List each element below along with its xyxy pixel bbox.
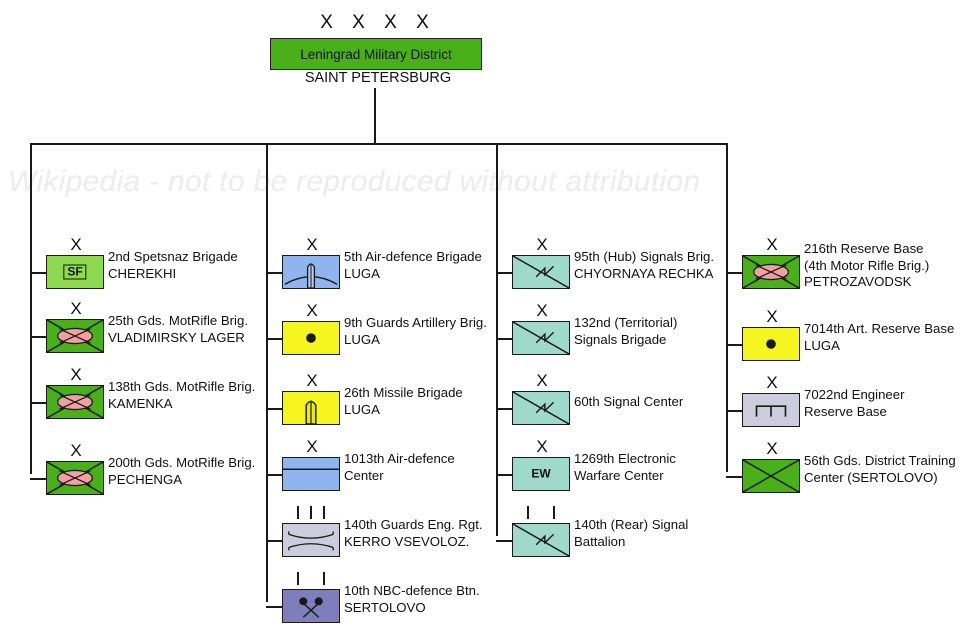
unit-connector-stub [266, 408, 282, 410]
echelon-tick [323, 572, 325, 585]
unit-connector-stub [496, 272, 512, 274]
unit-label: 7022nd EngineerReserve Base [804, 387, 904, 420]
unit-label: 25th Gds. MotRifle Brig.VLADIMIRSKY LAGE… [108, 313, 248, 346]
unit-label: 2nd Spetsnaz BrigadeCHEREKHI [108, 249, 238, 282]
unit-label: 132nd (Territorial)Signals Brigade [574, 315, 677, 348]
unit-location: PECHENGA [108, 472, 255, 489]
unit-connector-stub [726, 344, 742, 346]
unit-location: KAMENKA [108, 396, 255, 413]
unit-label: 1269th ElectronicWarfare Center [574, 451, 676, 484]
unit-size-symbol: X [46, 442, 106, 459]
unit-name: 200th Gds. MotRifle Brig. [108, 455, 255, 472]
unit-size-symbol: X [742, 374, 802, 391]
column-drop-4 [726, 143, 728, 472]
unit-name: 5th Air-defence Brigade [344, 249, 482, 266]
unit-name: 56th Gds. District Training [804, 453, 956, 470]
unit-label: 1013th Air-defenceCenter [344, 451, 455, 484]
unit-label: 200th Gds. MotRifle Brig.PECHENGA [108, 455, 255, 488]
motorized-rifle-icon[interactable] [742, 255, 800, 289]
unit-location: Battalion [574, 534, 688, 551]
unit-connector-stub [30, 272, 46, 274]
unit-label: 95th (Hub) Signals Brig.CHYORNAYA RECHKA [574, 249, 714, 282]
motorized-rifle-icon[interactable] [46, 319, 104, 353]
unit-name: 132nd (Territorial) [574, 315, 677, 332]
signals-icon[interactable] [512, 391, 570, 425]
unit-echelon-ticks [512, 506, 572, 520]
unit-size-symbol: X [282, 372, 342, 389]
echelon-tick [310, 506, 312, 519]
unit-echelon-ticks [282, 572, 342, 586]
unit-connector-stub [496, 540, 512, 542]
artillery-icon[interactable] [742, 327, 800, 361]
unit-name: 216th Reserve Base [804, 241, 929, 258]
unit-connector-stub [30, 402, 46, 404]
unit-connector-stub [266, 272, 282, 274]
unit-label: 9th Guards Artillery Brig.LUGA [344, 315, 487, 348]
echelon-tick [297, 572, 299, 585]
engineer-bridge-icon[interactable] [282, 523, 340, 557]
unit-location: KERRO VSEVOLOZ. [344, 534, 483, 551]
unit-connector-stub [496, 408, 512, 410]
unit-connector-stub [266, 474, 282, 476]
unit-size-symbol: X [46, 236, 106, 253]
unit-location: LUGA [804, 338, 954, 355]
signals-icon[interactable] [512, 321, 570, 355]
unit-size-symbol: X [512, 438, 572, 455]
unit-label: 26th Missile BrigadeLUGA [344, 385, 463, 418]
unit-label: 140th Guards Eng. Rgt.KERRO VSEVOLOZ. [344, 517, 483, 550]
unit-label: 216th Reserve Base(4th Motor Rifle Brig.… [804, 241, 929, 291]
nbc-defence-icon[interactable] [282, 589, 340, 623]
column-drop-1 [30, 143, 32, 474]
unit-location: LUGA [344, 402, 463, 419]
unit-connector-stub [266, 540, 282, 542]
unit-size-symbol: X [512, 236, 572, 253]
unit-connector-stub [496, 338, 512, 340]
unit-connector-stub [726, 476, 742, 478]
unit-size-symbol: X [282, 236, 342, 253]
infantry-icon[interactable] [742, 459, 800, 493]
unit-name: 60th Signal Center [574, 394, 683, 411]
unit-location: LUGA [344, 266, 482, 283]
unit-size-symbol: X [512, 372, 572, 389]
unit-size-symbol: X [282, 302, 342, 319]
unit-location: Signals Brigade [574, 332, 677, 349]
unit-name: 10th NBC-defence Btn. [344, 583, 480, 600]
header-unit-box[interactable]: Leningrad Military District [270, 38, 482, 70]
unit-name: 140th Guards Eng. Rgt. [344, 517, 483, 534]
unit-subtitle: (4th Motor Rifle Brig.) [804, 258, 929, 275]
unit-size-symbol: X [282, 438, 342, 455]
air-defence-center-icon[interactable] [282, 457, 340, 491]
distribution-bus [30, 143, 728, 145]
motorized-rifle-icon[interactable] [46, 385, 104, 419]
watermark-text: Wikipedia - not to be reproduced without… [8, 165, 952, 199]
unit-name: 26th Missile Brigade [344, 385, 463, 402]
echelon-tick [527, 506, 529, 519]
signals-icon[interactable] [512, 255, 570, 289]
unit-label: 5th Air-defence BrigadeLUGA [344, 249, 482, 282]
unit-connector-stub [496, 474, 512, 476]
unit-name: 140th (Rear) Signal [574, 517, 688, 534]
unit-location: SERTOLOVO [344, 600, 480, 617]
motorized-rifle-icon[interactable] [46, 461, 104, 495]
echelon-tick [323, 506, 325, 519]
unit-connector-stub [726, 410, 742, 412]
unit-label: 10th NBC-defence Btn.SERTOLOVO [344, 583, 480, 616]
unit-location: Warfare Center [574, 468, 676, 485]
unit-location: Center [344, 468, 455, 485]
unit-size-symbol: X [46, 366, 106, 383]
unit-location: CHYORNAYA RECHKA [574, 266, 714, 283]
unit-location: VLADIMIRSKY LAGER [108, 330, 248, 347]
air-defence-icon[interactable] [282, 255, 340, 289]
echelon-tick [297, 506, 299, 519]
unit-connector-stub [30, 336, 46, 338]
unit-name: 95th (Hub) Signals Brig. [574, 249, 714, 266]
artillery-icon[interactable] [282, 321, 340, 355]
signals-icon[interactable] [512, 523, 570, 557]
unit-name: 9th Guards Artillery Brig. [344, 315, 487, 332]
unit-badge-text: EW [528, 468, 553, 481]
special-forces-icon[interactable]: SF [46, 255, 104, 289]
unit-connector-stub [30, 478, 46, 480]
unit-location: Center (SERTOLOVO) [804, 470, 956, 487]
unit-connector-stub [266, 606, 282, 608]
echelon-tick [553, 506, 555, 519]
unit-label: 138th Gds. MotRifle Brig.KAMENKA [108, 379, 255, 412]
unit-name: 25th Gds. MotRifle Brig. [108, 313, 248, 330]
unit-size-symbol: X [742, 308, 802, 325]
unit-name: 7022nd Engineer [804, 387, 904, 404]
unit-location: CHEREKHI [108, 266, 238, 283]
unit-name: 7014th Art. Reserve Base [804, 321, 954, 338]
header-title: Leningrad Military District [300, 47, 452, 62]
unit-size-symbol: X [742, 440, 802, 457]
engineer-castle-icon[interactable] [742, 393, 800, 427]
unit-echelon-ticks [282, 506, 342, 520]
unit-label: 7014th Art. Reserve BaseLUGA [804, 321, 954, 354]
unit-size-symbol: X [742, 236, 802, 253]
unit-location: PETROZAVODSK [804, 274, 929, 291]
column-drop-2 [266, 143, 268, 602]
unit-name: 138th Gds. MotRifle Brig. [108, 379, 255, 396]
trunk-line [374, 88, 376, 144]
electronic-warfare-icon[interactable]: EW [512, 457, 570, 491]
org-chart-root: Wikipedia - not to be reproduced without… [0, 0, 960, 640]
unit-connector-stub [266, 338, 282, 340]
unit-location: Reserve Base [804, 404, 904, 421]
missile-icon[interactable] [282, 391, 340, 425]
header-location: SAINT PETERSBURG [270, 70, 486, 86]
unit-badge-text: SF [63, 265, 86, 280]
unit-size-symbol: X [512, 302, 572, 319]
header-size-symbol: X X X X [270, 12, 486, 34]
unit-size-symbol: X [46, 300, 106, 317]
unit-label: 140th (Rear) SignalBattalion [574, 517, 688, 550]
unit-label: 60th Signal Center [574, 394, 683, 411]
unit-name: 1013th Air-defence [344, 451, 455, 468]
unit-name: 1269th Electronic [574, 451, 676, 468]
unit-name: 2nd Spetsnaz Brigade [108, 249, 238, 266]
unit-connector-stub [726, 272, 742, 274]
unit-label: 56th Gds. District TrainingCenter (SERTO… [804, 453, 956, 486]
unit-location: LUGA [344, 332, 487, 349]
